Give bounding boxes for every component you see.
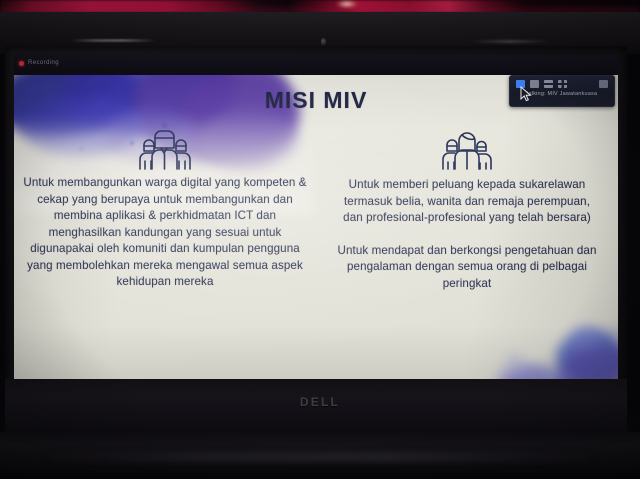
deck-light-reflection <box>40 452 600 462</box>
meeting-control-toolbar[interactable]: talking: MIV Jawatankuasa <box>509 75 615 107</box>
recording-dot-icon <box>19 61 24 66</box>
presentation-slide: MISI MIV <box>14 75 618 380</box>
split-view-icon[interactable] <box>544 80 553 88</box>
slide-paragraph: Untuk membangunkan warga digital yang ko… <box>23 175 307 291</box>
bezel-seam <box>70 39 156 42</box>
recording-label: Recording <box>28 60 59 66</box>
bezel-sheen <box>470 40 550 43</box>
slide-paragraph: Untuk memberi peluang kepada sukarelawan… <box>337 177 597 227</box>
webcam-icon <box>321 38 326 46</box>
dell-brand-logo: DELL <box>0 395 640 409</box>
grid-view-icon[interactable] <box>558 80 567 88</box>
slide-column-left: Untuk membangunkan warga digital yang ko… <box>14 125 316 306</box>
slide-paragraph: Untuk mendapat dan berkongsi pengetahuan… <box>337 243 597 293</box>
family-group-icon <box>435 125 499 171</box>
photo-of-laptop-screen: Recording <box>0 0 640 479</box>
light-hotspot <box>336 0 358 8</box>
laptop-screen[interactable]: Recording <box>14 55 618 380</box>
fullscreen-icon[interactable] <box>599 80 608 88</box>
slide-columns: Untuk membangunkan warga digital yang ko… <box>14 125 618 306</box>
slide-column-right: Untuk memberi peluang kepada sukarelawan… <box>316 125 618 306</box>
presentation-app-topbar: Recording <box>14 55 618 75</box>
recording-indicator: Recording <box>19 60 59 66</box>
group-of-people-icon <box>130 125 200 171</box>
